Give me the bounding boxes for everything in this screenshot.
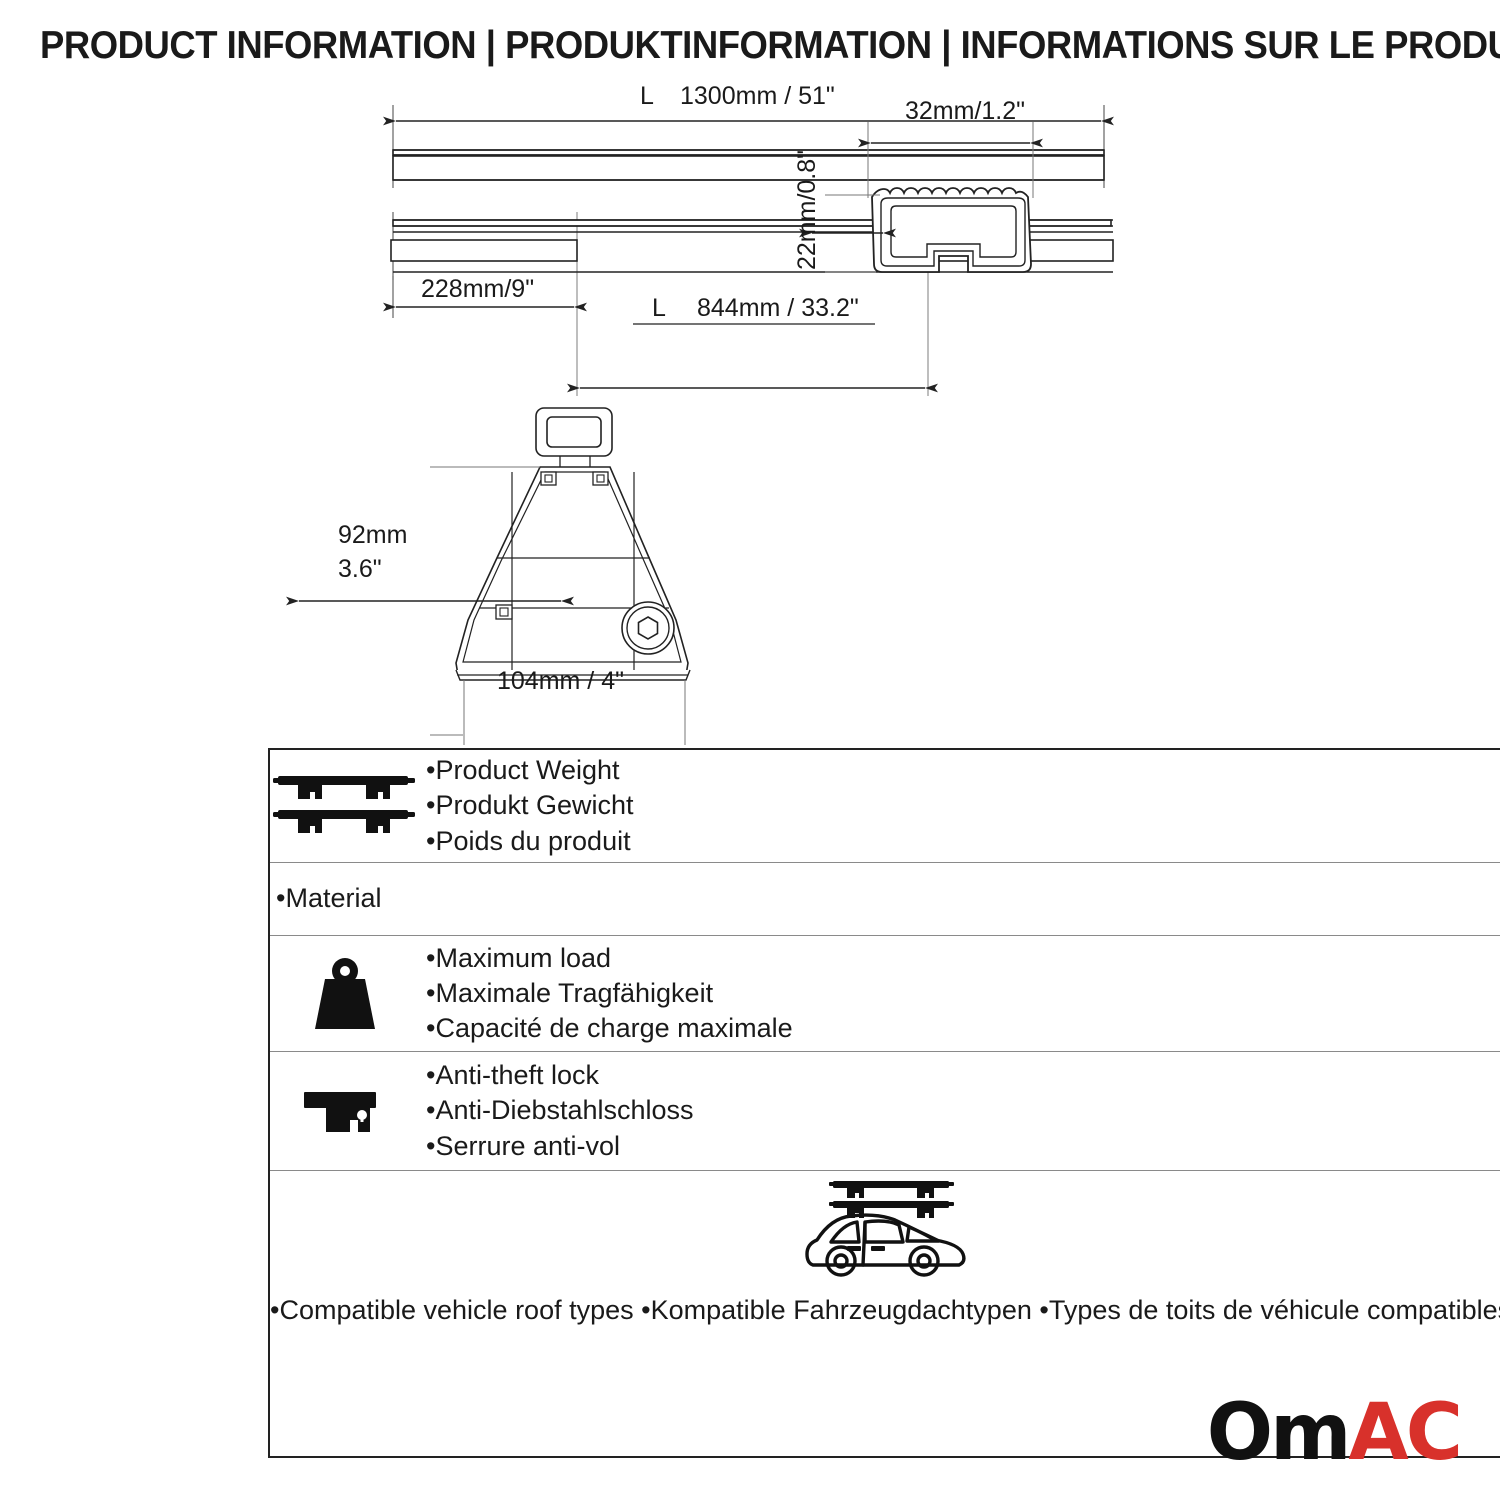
- row-bullets-lock: •Anti-theft lock •Anti-Diebstahlschloss …: [426, 1058, 694, 1163]
- profile-width-value: 32mm/1.2": [905, 97, 1025, 125]
- row-label-lock: •Anti-theft lock •Anti-Diebstahlschloss …: [269, 1052, 1500, 1171]
- row-bullets-weight: •Product Weight •Produkt Gewicht •Poids …: [426, 753, 634, 858]
- page-title: PRODUCT INFORMATION | PRODUKTINFORMATION…: [40, 24, 1368, 68]
- logo-text-dark: Om: [1207, 1388, 1349, 1478]
- row-bullets-material: •Material: [270, 881, 381, 916]
- bullet-line: •Poids du produit: [426, 824, 634, 859]
- table-row: •Anti-theft lock •Anti-Diebstahlschloss …: [269, 1052, 1500, 1171]
- bullet-line: •Produkt Gewicht: [426, 788, 634, 823]
- car-with-roofrack-icon: [270, 1171, 1500, 1283]
- profile-height-value: 22mm/0.8": [793, 150, 821, 270]
- bar-length-value: 1300mm / 51": [680, 82, 835, 110]
- bullet-line: •Serrure anti-vol: [426, 1129, 694, 1164]
- bullet-line: compatibles: [1367, 1295, 1500, 1325]
- foot-height-mm: 92mm: [338, 521, 407, 549]
- foot-width-value: 104mm / 4": [497, 667, 624, 695]
- specification-table: •Product Weight •Produkt Gewicht •Poids …: [268, 748, 1500, 1458]
- span-symbol: L: [652, 294, 666, 322]
- table-row: •Maximum load •Maximale Tragfähigkeit •C…: [269, 936, 1500, 1052]
- row-label-max-load: •Maximum load •Maximale Tragfähigkeit •C…: [269, 936, 1500, 1052]
- row-bullets-compatibility: •Compatible vehicle roof types •Kompatib…: [270, 1293, 1500, 1328]
- bullet-line: •Anti-Diebstahlschloss: [426, 1093, 694, 1128]
- bar-length-symbol: L: [640, 82, 654, 110]
- bullet-line: •Compatible vehicle roof types: [270, 1295, 634, 1325]
- foot-offset-value: 228mm/9": [421, 275, 534, 303]
- bullet-line: •Maximum load: [426, 941, 793, 976]
- bullet-line: •Types de toits de véhicule: [1039, 1295, 1359, 1325]
- two-crossbars-icon: [270, 770, 420, 842]
- bullet-line: •Product Weight: [426, 753, 634, 788]
- table-row: •Product Weight •Produkt Gewicht •Poids …: [269, 749, 1500, 863]
- technical-drawing: L 1300mm / 51" 228mm/9" L 844mm / 33.2" …: [0, 80, 1500, 745]
- row-label-weight: •Product Weight •Produkt Gewicht •Poids …: [269, 749, 1500, 863]
- weight-icon: [270, 955, 420, 1033]
- product-information-page: PRODUCT INFORMATION | PRODUKTINFORMATION…: [0, 0, 1500, 1500]
- bullet-line: •Capacité de charge maximale: [426, 1011, 793, 1046]
- bullet-line: •Material: [276, 881, 381, 916]
- bullet-line: •Maximale Tragfähigkeit: [426, 976, 793, 1011]
- table-row: •Material Steel: [269, 863, 1500, 936]
- logo-text-accent: AC: [1348, 1388, 1460, 1478]
- bullet-line: •Anti-theft lock: [426, 1058, 694, 1093]
- row-label-material: •Material: [269, 863, 1500, 936]
- bullet-line: •Kompatible Fahrzeugdachtypen: [641, 1295, 1032, 1325]
- foot-height-in: 3.6": [338, 555, 382, 583]
- omac-logo: OmAC: [1207, 1394, 1460, 1472]
- row-bullets-max-load: •Maximum load •Maximale Tragfähigkeit •C…: [426, 941, 793, 1046]
- span-value: 844mm / 33.2": [697, 294, 859, 322]
- lock-icon: [270, 1080, 420, 1142]
